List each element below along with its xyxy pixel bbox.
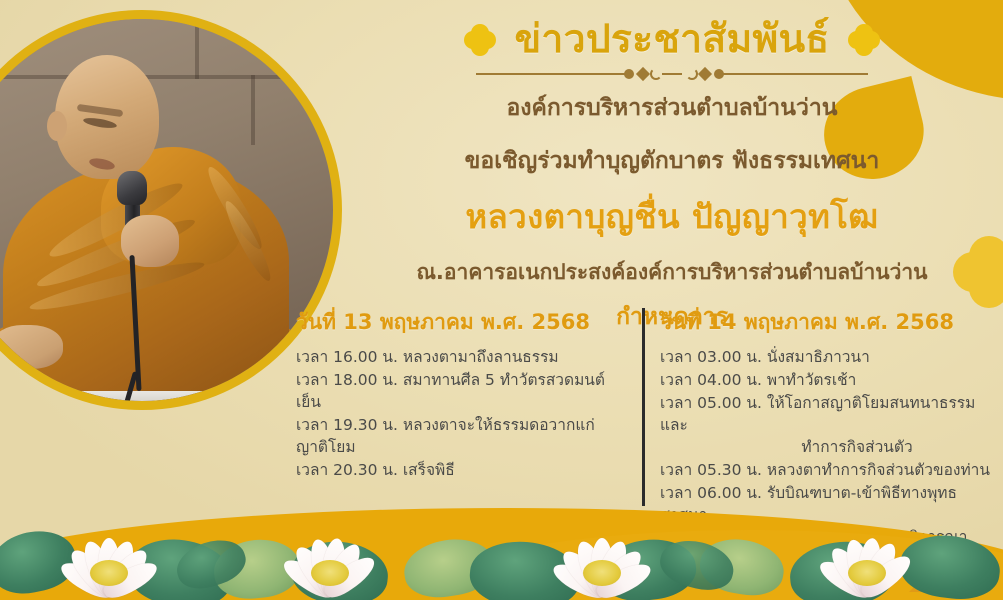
microphone-head (117, 171, 147, 205)
lotus-flower (268, 514, 392, 600)
day2-heading: วันที่ 14 พฤษภาคม พ.ศ. 2568 (660, 306, 996, 339)
invitation-line: ขอเชิญร่วมทำบุญตักบาตร ฟังธรรมเทศนา (352, 143, 992, 179)
lotus-flower (804, 510, 930, 600)
page-title: ข่าวประชาสัมพันธ์ (514, 18, 829, 63)
wall-seam (0, 75, 333, 79)
schedule-entry: เวลา 03.00 น. นั่งสมาธิภาวนา (660, 346, 996, 368)
schedule-entry: เวลา 04.00 น. พาทำวัตรเช้า (660, 369, 996, 391)
entry-text: เวลา 03.00 น. นั่งสมาธิภาวนา (660, 348, 870, 366)
entry-text: เวลา 19.30 น. หลวงตาจะให้ธรรมดอวากแก่ญาต… (296, 416, 595, 456)
lotus-border-decoration (0, 470, 1003, 600)
wall-seam (251, 75, 255, 145)
venue-line: ณ.อาคารอเนกประสงค์องค์การบริหารส่วนตำบลบ… (352, 256, 992, 289)
day1-heading: วันที่ 13 พฤษภาคม พ.ศ. 2568 (296, 306, 628, 339)
entry-text: เวลา 04.00 น. พาทำวัตรเช้า (660, 371, 856, 389)
entry-continuation: ทำการกิจส่วนตัว (660, 436, 996, 458)
monk-photo (0, 19, 333, 401)
title-row: ข่าวประชาสัมพันธ์ (352, 18, 992, 63)
entry-text: เวลา 18.00 น. สมาทานศีล 5 ทำวัตรสวดมนต์เ… (296, 371, 605, 411)
podium-surface (0, 391, 295, 401)
poster-canvas: ข่าวประชาสัมพันธ์ องค์การบริหารส่วนตำบลบ… (0, 0, 1003, 600)
schedule-entry: เวลา 05.00 น. ให้โอกาสญาติโยมสนทนาธรรมแล… (660, 392, 996, 458)
quatrefoil-icon (848, 24, 880, 56)
schedule-entry: เวลา 16.00 น. หลวงตามาถึงลานธรรม (296, 346, 628, 368)
monk-name: หลวงตาบุญชื่น ปัญญาวุทโฒ (352, 190, 992, 243)
entry-text: เวลา 05.00 น. ให้โอกาสญาติโยมสนทนาธรรมแล… (660, 394, 975, 434)
monk-ear (47, 111, 67, 141)
lotus-flower (538, 508, 666, 600)
schedule-entry: เวลา 18.00 น. สมาทานศีล 5 ทำวัตรสวดมนต์เ… (296, 369, 628, 413)
schedule-entry: เวลา 19.30 น. หลวงตาจะให้ธรรมดอวากแก่ญาต… (296, 414, 628, 458)
entry-text: เวลา 16.00 น. หลวงตามาถึงลานธรรม (296, 348, 559, 366)
organization-name: องค์การบริหารส่วนตำบลบ้านว่าน (352, 90, 992, 126)
ornamental-divider (476, 67, 868, 81)
quatrefoil-icon (464, 24, 496, 56)
header-block: ข่าวประชาสัมพันธ์ องค์การบริหารส่วนตำบลบ… (352, 18, 992, 335)
wall-seam (195, 19, 199, 79)
monk-photo-frame (0, 10, 342, 410)
monk-resting-hand (0, 325, 63, 369)
lotus-flower (44, 508, 174, 600)
